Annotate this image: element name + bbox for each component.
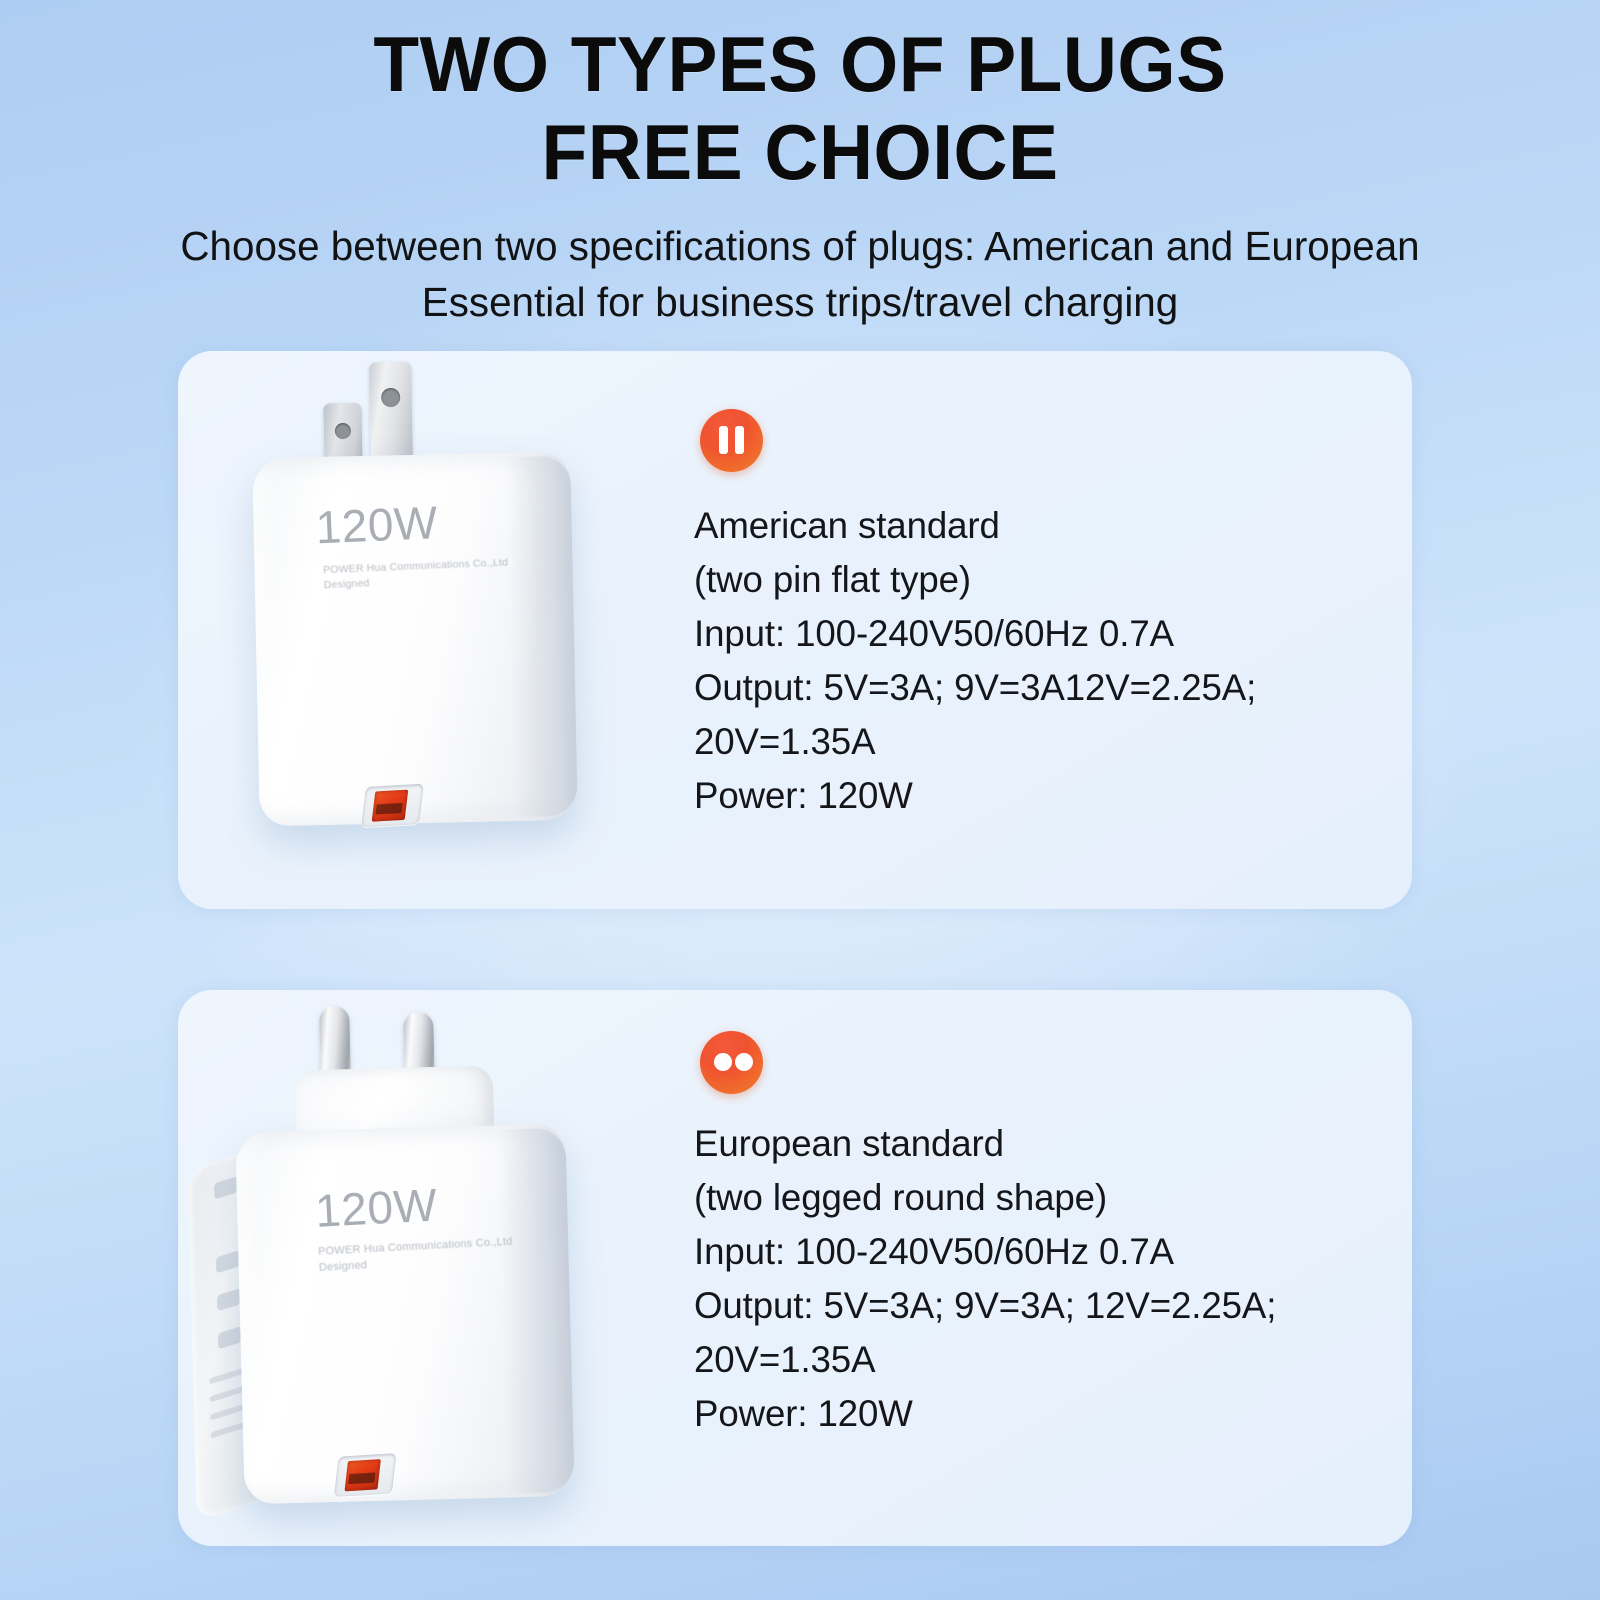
certification-mark bbox=[216, 1250, 240, 1274]
usb-slot bbox=[348, 1472, 375, 1484]
watt-label: 120W bbox=[314, 1178, 439, 1238]
blade-hole bbox=[335, 423, 351, 439]
spec-line: European standard bbox=[694, 1117, 1377, 1171]
page-subtitle-line-2: Essential for business trips/travel char… bbox=[12, 274, 1588, 331]
flat-pin-right bbox=[735, 426, 744, 454]
spec-line: American standard bbox=[694, 499, 1377, 553]
product-image-american: 120W POWER Hua Communications Co.,Ltd De… bbox=[178, 351, 648, 909]
infographic-page: TWO TYPES OF PLUGS FREE CHOICE Choose be… bbox=[0, 0, 1600, 1600]
spec-line: Input: 100-240V50/60Hz 0.7A bbox=[694, 607, 1377, 661]
charger-body-european: 120W POWER Hua Communications Co.,Ltd De… bbox=[235, 1124, 575, 1505]
spec-list-european: European standard (two legged round shap… bbox=[694, 1117, 1384, 1441]
spec-line: Input: 100-240V50/60Hz 0.7A bbox=[694, 1225, 1377, 1279]
card-american-standard: 120W POWER Hua Communications Co.,Ltd De… bbox=[178, 351, 1412, 909]
certification-mark bbox=[217, 1288, 241, 1312]
usb-a-port bbox=[334, 1453, 396, 1497]
blade-hole bbox=[381, 388, 400, 407]
two-round-pins-icon bbox=[700, 1031, 763, 1094]
spec-line: 20V=1.35A bbox=[694, 1333, 1377, 1387]
usb-slot bbox=[376, 803, 403, 815]
round-pin-left bbox=[714, 1053, 732, 1071]
card-european-standard: 120W POWER Hua Communications Co.,Ltd De… bbox=[178, 990, 1412, 1546]
spec-line: Output: 5V=3A; 9V=3A12V=2.25A; bbox=[694, 661, 1377, 715]
product-image-european: 120W POWER Hua Communications Co.,Ltd De… bbox=[178, 990, 648, 1546]
us-plug-blade-far bbox=[369, 362, 413, 467]
certification-mark bbox=[218, 1326, 242, 1350]
certification-mark bbox=[214, 1176, 238, 1200]
info-american: American standard (two pin flat type) In… bbox=[678, 351, 1378, 909]
brand-print: POWER Hua Communications Co.,Ltd Designe… bbox=[318, 1235, 514, 1277]
header: TWO TYPES OF PLUGS FREE CHOICE Choose be… bbox=[0, 0, 1600, 331]
spec-line: 20V=1.35A bbox=[694, 715, 1377, 769]
spec-line: (two legged round shape) bbox=[694, 1171, 1377, 1225]
spec-line: Output: 5V=3A; 9V=3A; 12V=2.25A; bbox=[694, 1279, 1377, 1333]
brand-print: POWER Hua Communications Co.,Ltd Designe… bbox=[323, 556, 509, 594]
round-pin-right bbox=[735, 1053, 753, 1071]
info-european: European standard (two legged round shap… bbox=[678, 990, 1378, 1546]
two-flat-pins-icon bbox=[700, 409, 763, 472]
flat-pin-left bbox=[719, 426, 728, 454]
page-title-line-2: FREE CHOICE bbox=[32, 110, 1568, 196]
charger-body-american: 120W POWER Hua Communications Co.,Ltd De… bbox=[252, 452, 578, 827]
spec-list-american: American standard (two pin flat type) In… bbox=[694, 499, 1384, 823]
spec-line: (two pin flat type) bbox=[694, 553, 1377, 607]
page-title-line-1: TWO TYPES OF PLUGS bbox=[32, 22, 1568, 108]
spec-line: Power: 120W bbox=[694, 1387, 1377, 1441]
watt-label: 120W bbox=[315, 495, 439, 554]
page-subtitle-line-1: Choose between two specifications of plu… bbox=[12, 218, 1588, 275]
usb-a-port bbox=[361, 784, 424, 828]
spec-line: Power: 120W bbox=[694, 769, 1377, 823]
